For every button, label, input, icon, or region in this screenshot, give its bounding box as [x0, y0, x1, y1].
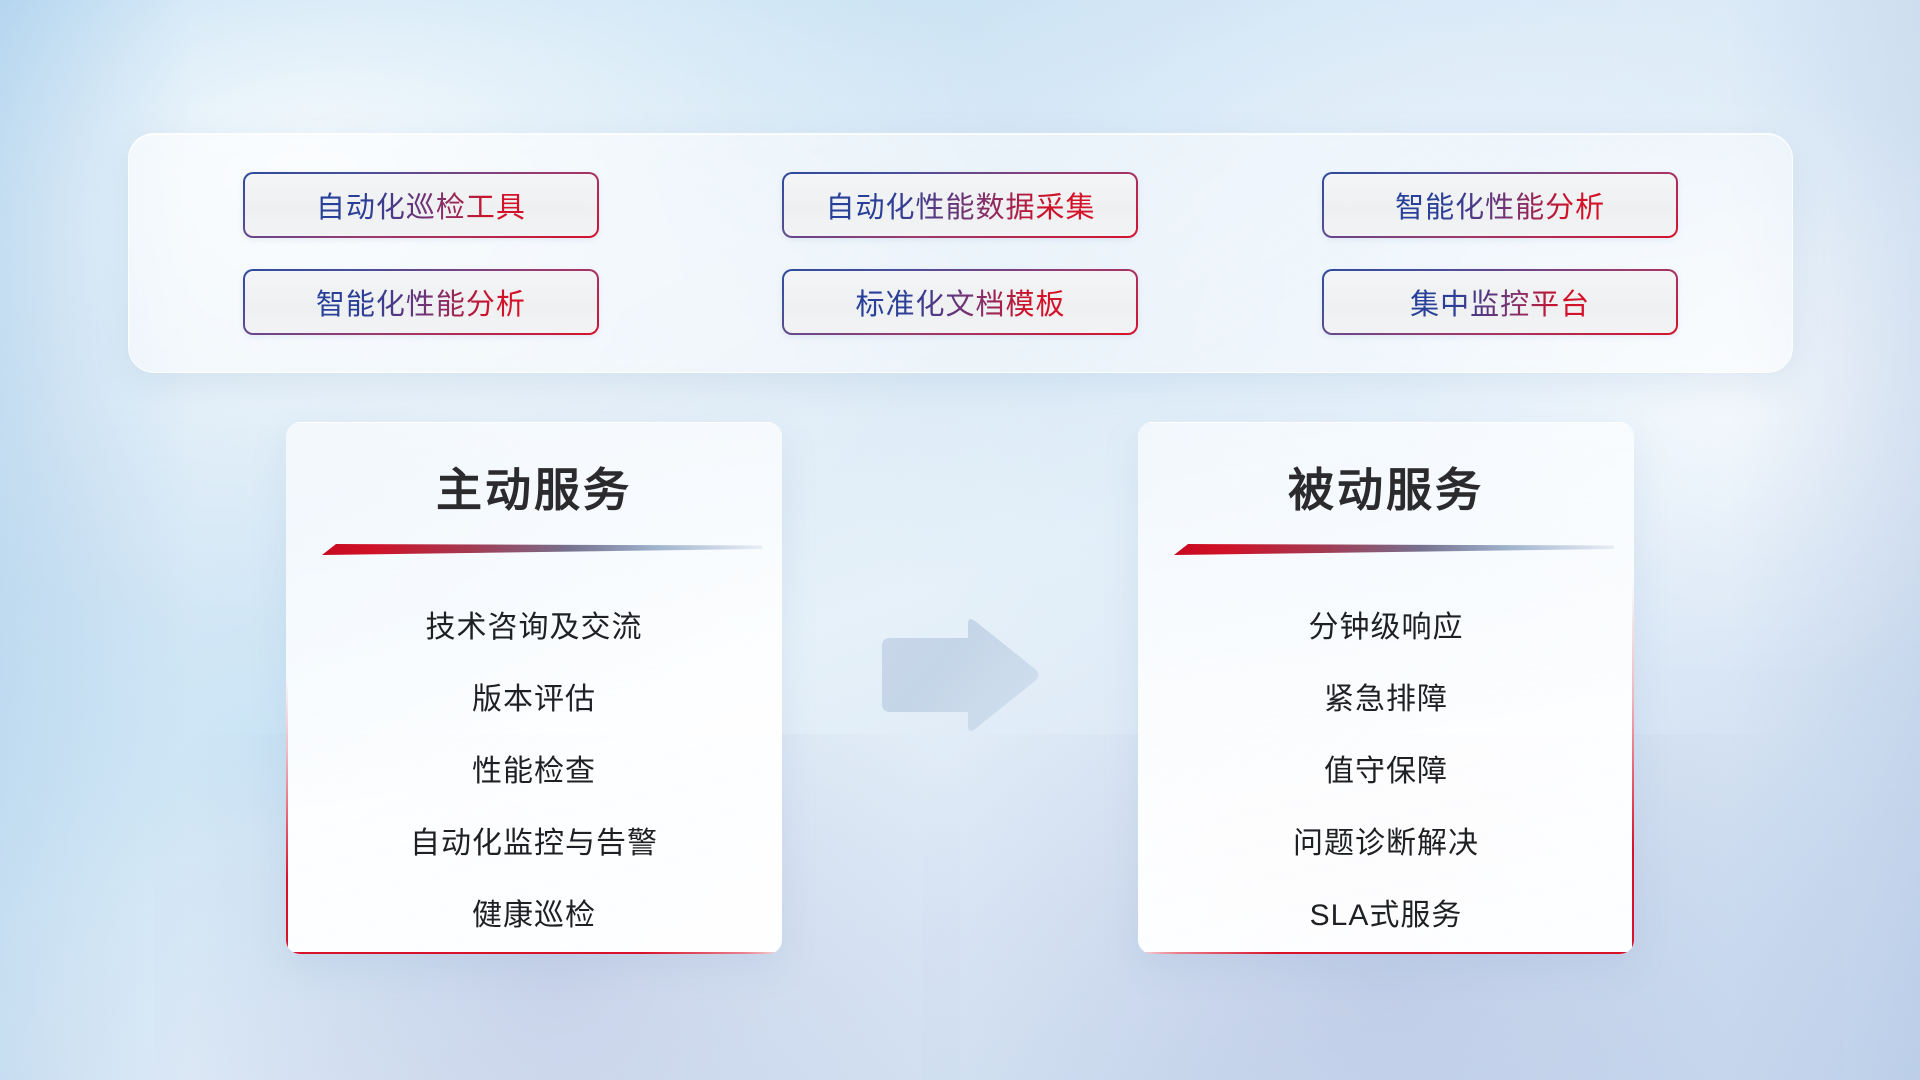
list-item: 问题诊断解决 [1138, 804, 1634, 876]
service-card-reactive: 被动服务 分钟级响应 紧急排障 值守保障 问题诊断解决 SLA式服务 [1138, 422, 1634, 954]
card-top-highlight [286, 422, 782, 423]
capability-tag-6[interactable]: 集中监控平台 [1322, 269, 1678, 335]
service-card-proactive: 主动服务 技术咨询及交流 版本评估 性能检查 自动化监控与告警 健康巡检 [286, 422, 782, 954]
service-card-proactive-title: 主动服务 [286, 454, 782, 520]
card-accent-bottom [286, 952, 782, 954]
capability-tag-1[interactable]: 自动化巡检工具 [243, 172, 599, 238]
capability-tag-3-label: 智能化性能分析 [1395, 184, 1605, 226]
service-card-reactive-list: 分钟级响应 紧急排障 值守保障 问题诊断解决 SLA式服务 [1138, 588, 1634, 948]
list-item: 紧急排障 [1138, 660, 1634, 732]
list-item: 技术咨询及交流 [286, 588, 782, 660]
capability-tag-6-surface: 集中监控平台 [1324, 271, 1676, 333]
capability-tags-panel: 自动化巡检工具 自动化性能数据采集 智能化性能分析 智能化性能分析 标准化文档模… [128, 133, 1793, 373]
card-top-highlight [1138, 422, 1634, 423]
capability-tag-5-label: 标准化文档模板 [855, 281, 1065, 323]
list-item: 自动化监控与告警 [286, 804, 782, 876]
card-accent-bottom [1138, 952, 1634, 954]
capability-tag-5-surface: 标准化文档模板 [784, 271, 1136, 333]
service-card-reactive-divider [1174, 544, 1614, 555]
list-item: 性能检查 [286, 732, 782, 804]
service-card-proactive-divider [322, 544, 762, 555]
right-arrow-icon [872, 614, 1042, 736]
capability-tag-2-label: 自动化性能数据采集 [825, 184, 1095, 226]
capability-tag-5[interactable]: 标准化文档模板 [782, 269, 1138, 335]
capability-tag-3-surface: 智能化性能分析 [1324, 174, 1676, 236]
capability-tag-2-surface: 自动化性能数据采集 [784, 174, 1136, 236]
capability-tag-4-label: 智能化性能分析 [316, 281, 526, 323]
capability-tag-2[interactable]: 自动化性能数据采集 [782, 172, 1138, 238]
list-item: 值守保障 [1138, 732, 1634, 804]
capability-tags-grid: 自动化巡检工具 自动化性能数据采集 智能化性能分析 智能化性能分析 标准化文档模… [129, 134, 1792, 372]
service-card-reactive-title: 被动服务 [1138, 454, 1634, 520]
list-item: 健康巡检 [286, 876, 782, 948]
capability-tag-3[interactable]: 智能化性能分析 [1322, 172, 1678, 238]
list-item: 版本评估 [286, 660, 782, 732]
capability-tag-6-label: 集中监控平台 [1410, 281, 1590, 323]
capability-tag-1-surface: 自动化巡检工具 [245, 174, 597, 236]
capability-tag-4[interactable]: 智能化性能分析 [243, 269, 599, 335]
capability-tag-4-surface: 智能化性能分析 [245, 271, 597, 333]
capability-tag-1-label: 自动化巡检工具 [316, 184, 526, 226]
list-item: 分钟级响应 [1138, 588, 1634, 660]
list-item: SLA式服务 [1138, 876, 1634, 948]
service-card-proactive-list: 技术咨询及交流 版本评估 性能检查 自动化监控与告警 健康巡检 [286, 588, 782, 948]
